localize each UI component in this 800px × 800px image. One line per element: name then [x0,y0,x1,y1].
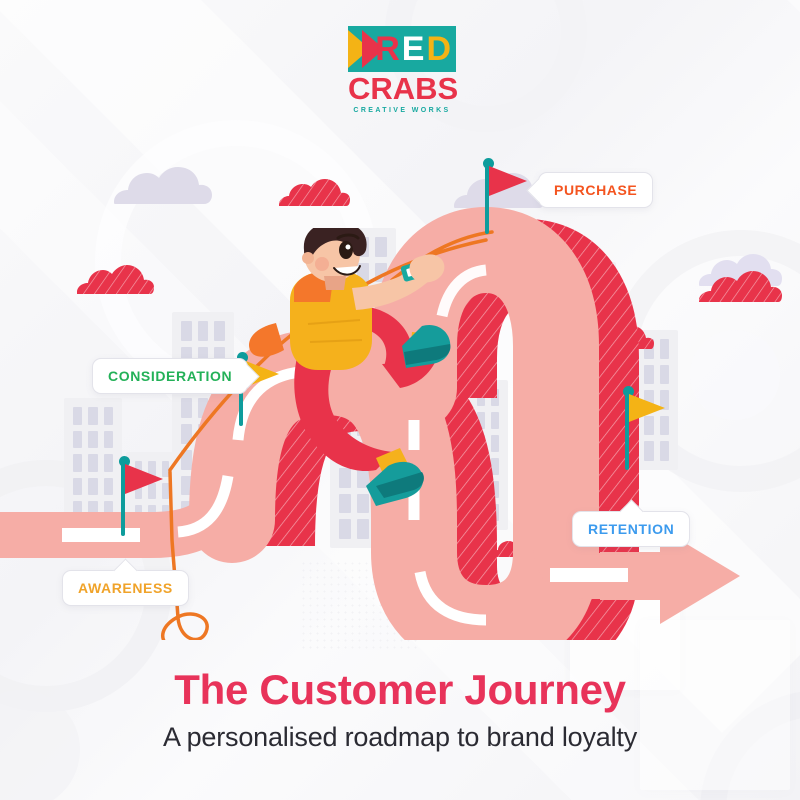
logo-tagline: CREATIVE WORKS [348,107,456,114]
brand-logo[interactable]: RED CRABS CREATIVE WORKS [348,26,456,108]
stage-label-text: PURCHASE [554,182,637,198]
flag-pennant-icon [489,166,529,198]
flag-pennant-icon [629,394,667,424]
stage-label-text: CONSIDERATION [108,368,232,384]
page-title: The Customer Journey [0,666,800,714]
logo-wordmark: CRABS [348,74,456,104]
page-subtitle: A personalised roadmap to brand loyalty [0,722,800,753]
logo-letter-e: E [402,30,426,69]
stage-label-purchase[interactable]: PURCHASE [538,172,653,208]
flag-pennant-icon [125,464,165,496]
climber-character [236,228,466,513]
logo-letters: RED [348,26,456,72]
stage-label-awareness[interactable]: AWARENESS [62,570,189,606]
poster-canvas: AWARENESS CONSIDERATION PURCHASE RETENTI… [0,0,800,800]
logo-badge: RED [348,26,456,72]
logo-letter-r: R [375,30,401,69]
stage-label-retention[interactable]: RETENTION [572,511,690,547]
stage-label-consideration[interactable]: CONSIDERATION [92,358,248,394]
logo-letter-d: D [426,30,452,69]
